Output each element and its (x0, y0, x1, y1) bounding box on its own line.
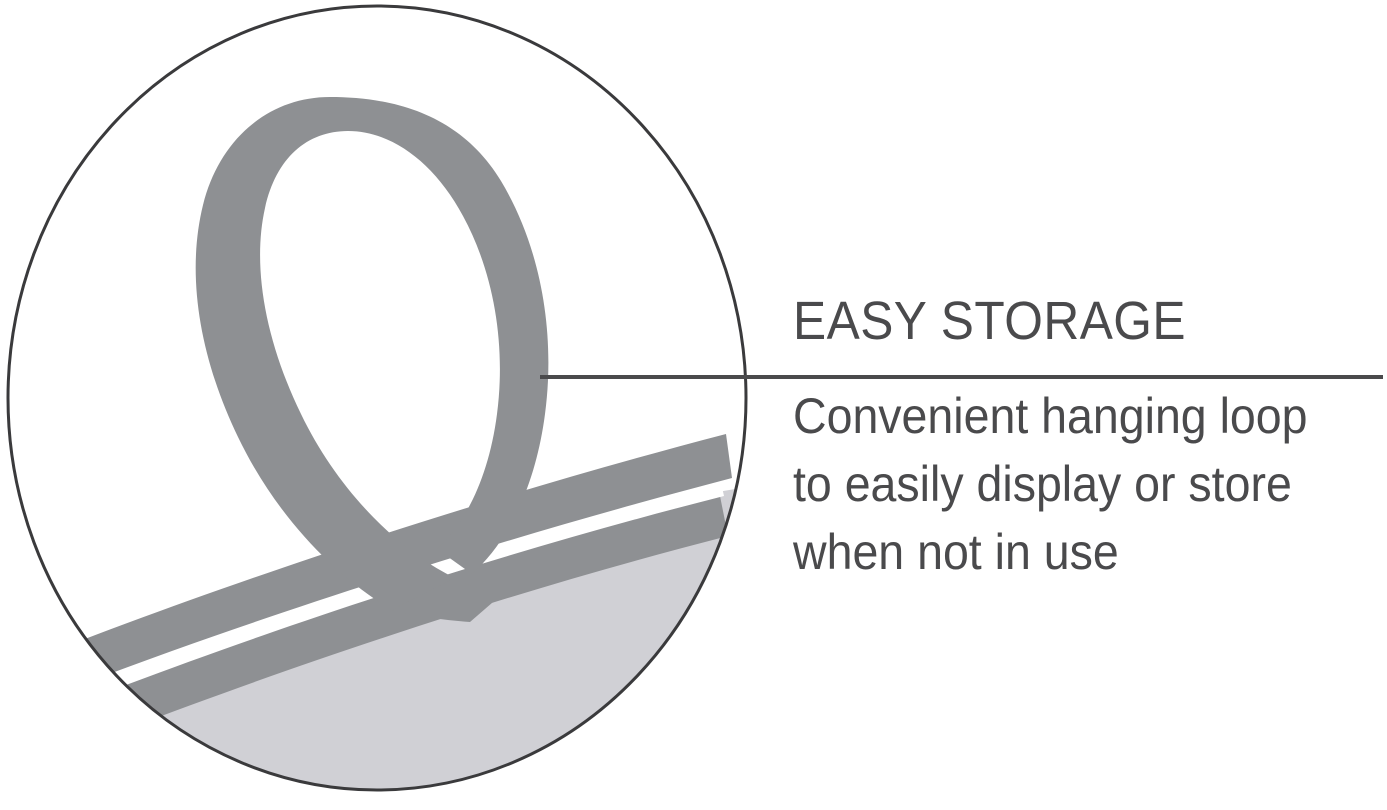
hanging-loop-illustration (0, 0, 760, 805)
easy-storage-callout-figure: EASY STORAGE Convenient hanging loop to … (0, 0, 1387, 805)
callout-body: Convenient hanging loop to easily displa… (793, 382, 1332, 586)
illustration-svg (0, 0, 760, 805)
callout-body-line-3: when not in use (793, 518, 1332, 586)
callout-body-line-1: Convenient hanging loop (793, 382, 1332, 450)
callout-text-block: EASY STORAGE Convenient hanging loop to … (793, 292, 1373, 586)
callout-body-line-2: to easily display or store (793, 450, 1332, 518)
callout-headline: EASY STORAGE (793, 292, 1327, 350)
